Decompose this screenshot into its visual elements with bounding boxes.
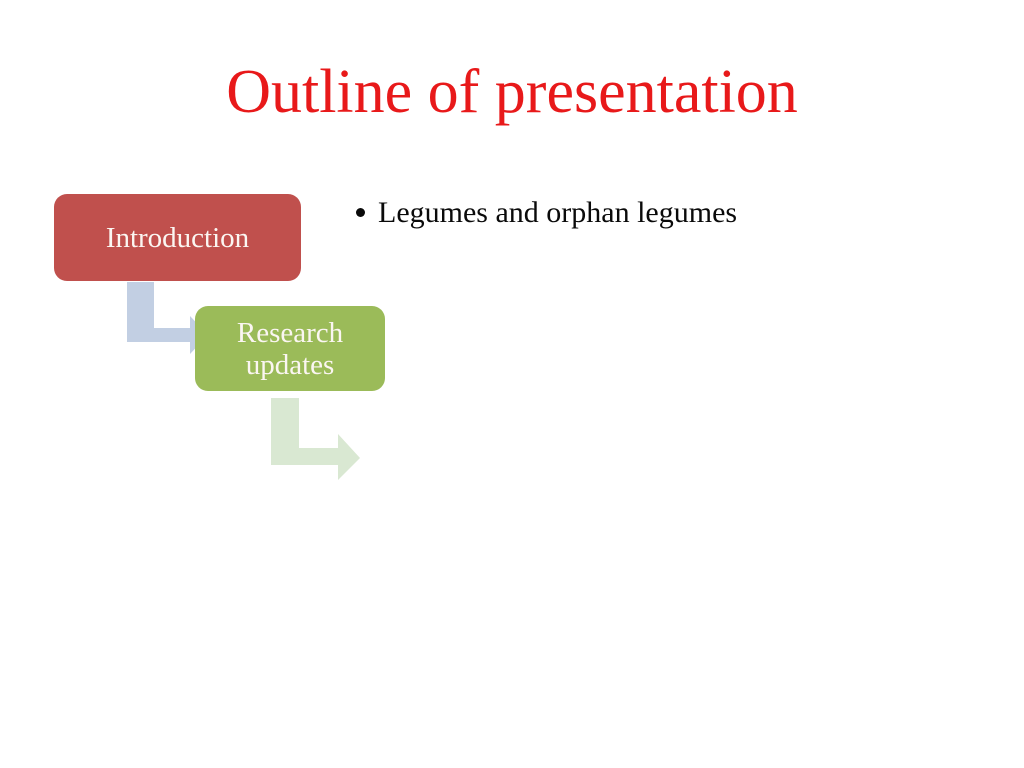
diagram-node-introduction[interactable]: Introduction bbox=[54, 194, 301, 281]
bullet-list: Legumes and orphan legumes bbox=[352, 193, 772, 232]
slide-canvas: Outline of presentation Introduction Res… bbox=[0, 0, 1024, 768]
diagram-node-introduction-label: Introduction bbox=[106, 221, 249, 255]
diagram-node-research-updates-label: Research updates bbox=[195, 317, 385, 381]
bullet-dot-icon bbox=[356, 208, 365, 217]
list-item: Legumes and orphan legumes bbox=[352, 193, 772, 232]
diagram-node-research-updates[interactable]: Research updates bbox=[195, 306, 385, 391]
smartart-diagram: Introduction Research updates bbox=[0, 0, 420, 500]
bullet-item-text: Legumes and orphan legumes bbox=[378, 193, 772, 232]
connector-research-to-next-arrow-icon bbox=[262, 398, 364, 480]
